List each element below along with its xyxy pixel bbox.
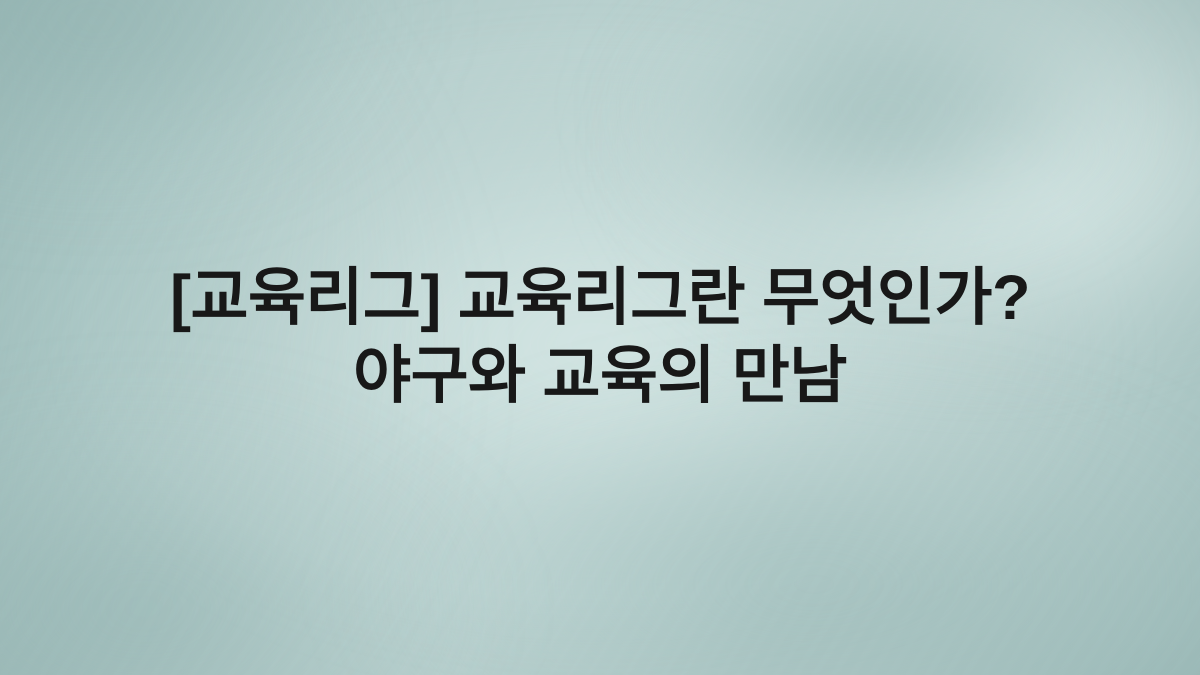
background-bottom-left-shade: [0, 419, 480, 675]
background-swirl-eye: [624, 0, 1152, 243]
page-title: [교육리그] 교육리그란 무엇인가? 야구와 교육의 만남: [0, 259, 1200, 415]
background-lower-dark-band: [360, 392, 1200, 675]
title-line-1: [교육리그] 교육리그란 무엇인가?: [0, 259, 1200, 337]
title-line-2: 야구와 교육의 만남: [0, 337, 1200, 415]
background-top-left-shade: [0, 0, 408, 189]
title-card: [교육리그] 교육리그란 무엇인가? 야구와 교육의 만남: [0, 0, 1200, 675]
